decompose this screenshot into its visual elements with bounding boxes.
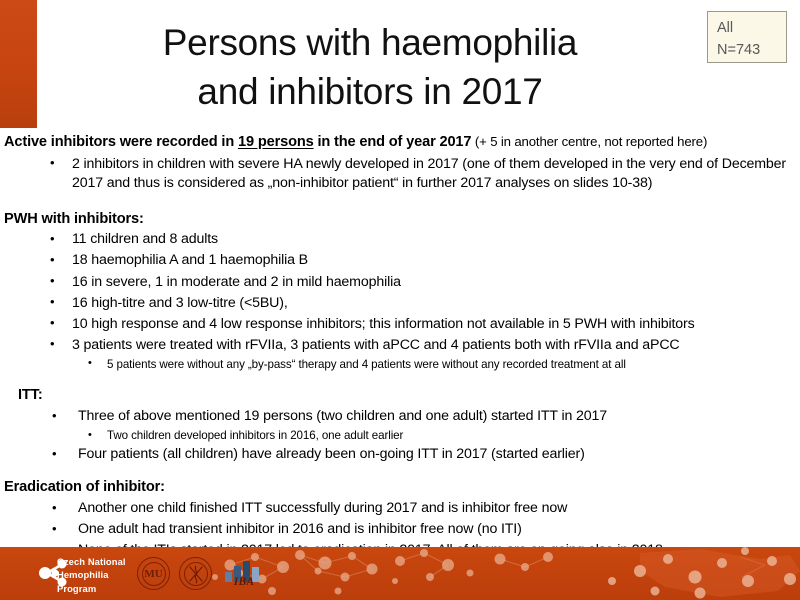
page-title: Persons with haemophilia and inhibitors … — [60, 18, 680, 116]
lead-underlined: 19 persons — [238, 134, 314, 150]
section-heading: ITT: — [18, 386, 800, 406]
program-name: Czech National Hemophilia Program — [57, 555, 126, 595]
list-item: 16 in severe, 1 in moderate and 2 in mil… — [0, 273, 800, 293]
list-item: One adult had transient inhibitor in 201… — [0, 520, 800, 540]
lead-statement: Active inhibitors were recorded in 19 pe… — [4, 133, 800, 153]
list-item: 11 children and 8 adults — [0, 230, 800, 250]
masaryk-university-seal-abbr: MU — [142, 562, 166, 586]
list-item: 2 inhibitors in children with severe HA … — [0, 155, 800, 194]
sub-list-item: 5 patients were without any „by-pass“ th… — [0, 357, 800, 373]
section-heading: PWH with inhibitors: — [4, 210, 800, 230]
masaryk-university-seal-icon: MU — [137, 557, 170, 590]
footer-bar: Czech National Hemophilia Program MU IBA — [0, 547, 800, 600]
slide-body: Active inhibitors were recorded in 19 pe… — [0, 133, 800, 563]
medical-faculty-seal-icon — [179, 557, 212, 590]
section-itt: ITT: Three of above mentioned 19 persons… — [0, 386, 800, 465]
section-pwh-with-inhibitors: PWH with inhibitors: 11 children and 8 a… — [0, 210, 800, 374]
caduceus-icon — [184, 562, 208, 586]
list-item: 16 high-titre and 3 low-titre (<5BU), — [0, 294, 800, 314]
bullet-list: Three of above mentioned 19 persons (two… — [0, 407, 800, 465]
lead-bullet-list: 2 inhibitors in children with severe HA … — [0, 155, 800, 194]
list-item: Four patients (all children) have alread… — [0, 445, 800, 465]
list-item: 18 haemophilia A and 1 haemophilia B — [0, 251, 800, 271]
cohort-badge-label: All — [717, 17, 786, 39]
bullet-list: 11 children and 8 adults 18 haemophilia … — [0, 230, 800, 373]
sub-list-item: Two children developed inhibitors in 201… — [0, 428, 800, 444]
iba-logo-text: IBA — [221, 576, 267, 588]
program-name-line-1: Czech National — [57, 555, 126, 568]
accent-bar — [0, 0, 37, 128]
list-item: 3 patients were treated with rFVIIa, 3 p… — [0, 336, 800, 356]
list-item: 10 high response and 4 low response inhi… — [0, 315, 800, 335]
program-name-line-3: Program — [57, 582, 126, 595]
list-item: Three of above mentioned 19 persons (two… — [0, 407, 800, 427]
title-line-2: and inhibitors in 2017 — [60, 67, 680, 116]
program-name-line-2: Hemophilia — [57, 568, 126, 581]
lead-bold-suffix: in the end of year 2017 — [314, 134, 472, 150]
section-heading: Eradication of inhibitor: — [4, 478, 800, 498]
list-item: Another one child finished ITT successfu… — [0, 499, 800, 519]
lead-note: (+ 5 in another centre, not reported her… — [471, 134, 707, 149]
cohort-badge-count: N=743 — [717, 39, 786, 61]
cohort-badge: All N=743 — [707, 11, 787, 63]
title-line-1: Persons with haemophilia — [60, 18, 680, 67]
lead-bold-prefix: Active inhibitors were recorded in — [4, 134, 238, 150]
